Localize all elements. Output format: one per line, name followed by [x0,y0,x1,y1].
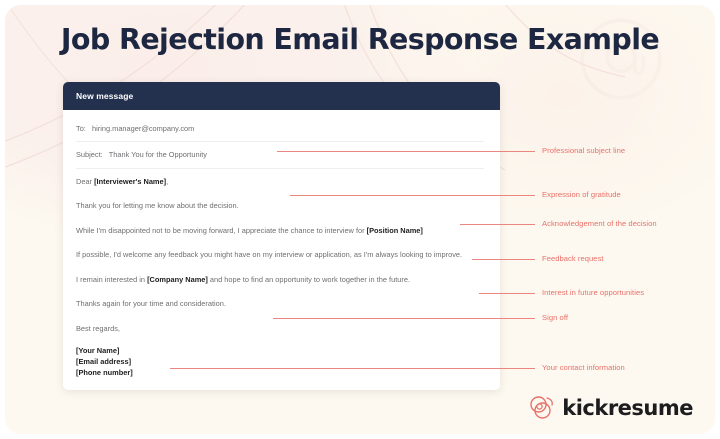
leader-line-sign-off [273,318,535,319]
leader-line-gratitude [290,195,535,196]
page-title: Job Rejection Email Response Example [5,23,715,56]
leader-line-feedback [472,259,535,260]
email-salutation: Dear [Interviewer's Name], [76,176,484,187]
salutation-prefix: Dear [76,177,94,186]
annotation-expression-of-gratitude: Expression of gratitude [542,190,621,199]
email-sign-off: Best regards, [76,323,484,334]
signature-email-address: [Email address] [76,356,484,367]
email-card-header: New message [63,82,500,110]
signature-your-name: [Your Name] [76,345,484,356]
email-compose-card: New message To: hiring.manager@company.c… [63,82,500,390]
position-name-placeholder: [Position Name] [367,226,423,235]
email-to-row: To: hiring.manager@company.com [76,123,484,134]
annotation-sign-off: Sign off [542,313,568,322]
new-message-label: New message [76,91,133,101]
email-paragraph-acknowledgement: While I'm disappointed not to be moving … [76,225,484,236]
annotation-acknowledgement-of-decision: Acknowledgement of the decision [542,219,657,228]
paragraph-text: Thank you for letting me know about the … [76,201,239,210]
subject-label: Subject: [76,150,103,159]
to-value: hiring.manager@company.com [92,124,194,133]
infographic-canvas: Job Rejection Email Response Example New… [5,5,715,434]
kickresume-wordmark: kickresume [562,396,693,420]
to-label: To: [76,124,86,133]
paragraph-text: Thanks again for your time and considera… [76,299,226,308]
annotation-professional-subject-line: Professional subject line [542,146,625,155]
annotation-your-contact-information: Your contact information [542,363,625,372]
email-signature-block: [Your Name] [Email address] [Phone numbe… [76,345,484,378]
salutation-suffix: , [166,177,168,186]
divider-to [76,141,484,142]
company-name-placeholder: [Company Name] [147,275,208,284]
leader-line-contact-information [170,368,535,369]
email-paragraph-thanks-again: Thanks again for your time and considera… [76,298,484,309]
page-root: Job Rejection Email Response Example New… [0,0,720,439]
leader-line-acknowledgement [460,224,535,225]
salutation-placeholder: [Interviewer's Name] [94,177,166,186]
paragraph-prefix: I remain interested in [76,275,147,284]
paragraph-text: If possible, I'd welcome any feedback yo… [76,250,462,259]
kickresume-mark-icon [528,395,555,420]
email-paragraph-future-interest: I remain interested in [Company Name] an… [76,274,484,285]
annotation-feedback-request: Feedback request [542,254,604,263]
email-paragraph-feedback: If possible, I'd welcome any feedback yo… [76,249,484,260]
signature-phone-number: [Phone number] [76,367,484,378]
subject-value: Thank You for the Opportunity [109,150,207,159]
annotation-interest-in-future-opportunities: Interest in future opportunities [542,288,644,297]
divider-subject [76,168,484,169]
email-paragraph-gratitude: Thank you for letting me know about the … [76,200,484,211]
kickresume-logo: kickresume [528,395,693,420]
leader-line-subject [277,151,535,152]
paragraph-prefix: While I'm disappointed not to be moving … [76,226,367,235]
paragraph-suffix: and hope to find an opportunity to work … [208,275,410,284]
leader-line-future-interest [479,293,535,294]
